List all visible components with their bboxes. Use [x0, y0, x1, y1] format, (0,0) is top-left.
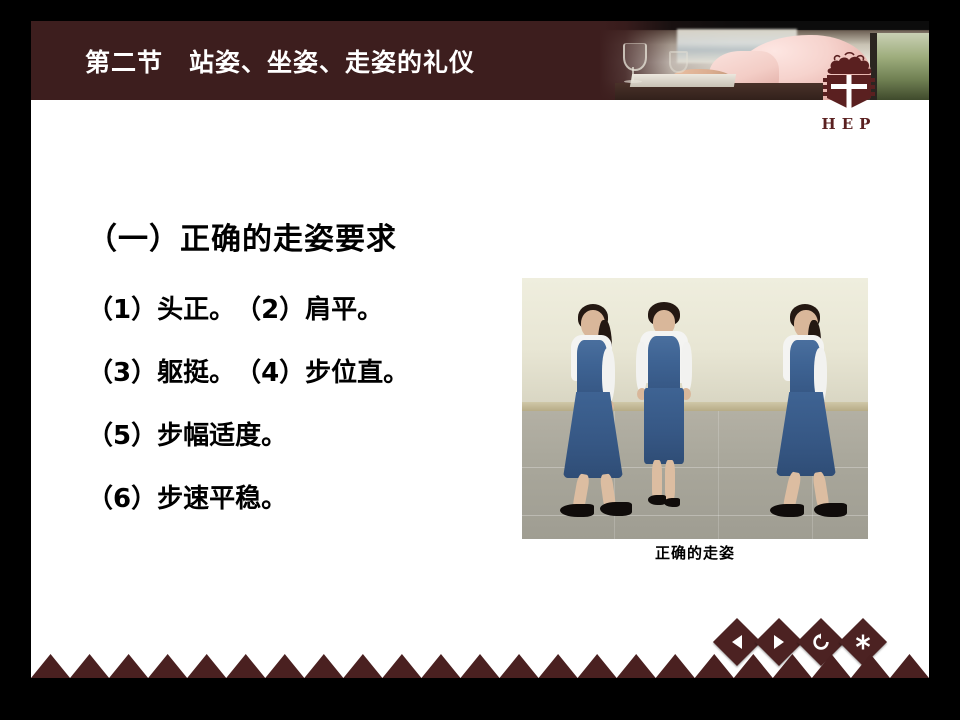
walking-posture-photo [522, 278, 868, 539]
screenshot-stage: 第二节 站姿、坐姿、走姿的礼仪 [0, 0, 960, 720]
book-crest-icon [809, 51, 889, 113]
content-item-2: （3）躯挺。 （4）步位直。 [87, 352, 517, 389]
hep-logo: HEP [801, 51, 897, 143]
slide-header-band: 第二节 站姿、坐姿、走姿的礼仪 [31, 21, 929, 100]
content-item-3: （5）步幅适度。 [87, 415, 517, 452]
photo-figure-right [752, 304, 862, 522]
header-photo-wine-glass-foot [624, 80, 642, 83]
zigzag-border [31, 650, 929, 678]
slide-body-text: （一）正确的走姿要求 （1）头正。 （2）肩平。 （3）躯挺。 （4）步位直。 … [87, 214, 517, 541]
presentation-slide: 第二节 站姿、坐姿、走姿的礼仪 [31, 21, 929, 678]
hep-logo-text: HEP [801, 115, 897, 133]
content-item-1: （1）头正。 （2）肩平。 [87, 289, 517, 326]
slide-title: 第二节 站姿、坐姿、走姿的礼仪 [85, 43, 475, 79]
photo-figure-center [634, 302, 694, 512]
photo-caption: 正确的走姿 [522, 542, 868, 563]
content-item-4: （6）步速平稳。 [87, 478, 517, 515]
content-heading: （一）正确的走姿要求 [87, 214, 517, 258]
header-photo-wine-glass-stem [632, 67, 634, 81]
header-photo-book [630, 74, 736, 87]
letterbox-right [929, 0, 960, 720]
letterbox-bottom [0, 678, 960, 720]
header-photo-second-glass [669, 51, 688, 73]
letterbox-top [0, 0, 960, 21]
header-photo-wine-glass-bowl [623, 43, 647, 71]
letterbox-left [0, 0, 31, 720]
